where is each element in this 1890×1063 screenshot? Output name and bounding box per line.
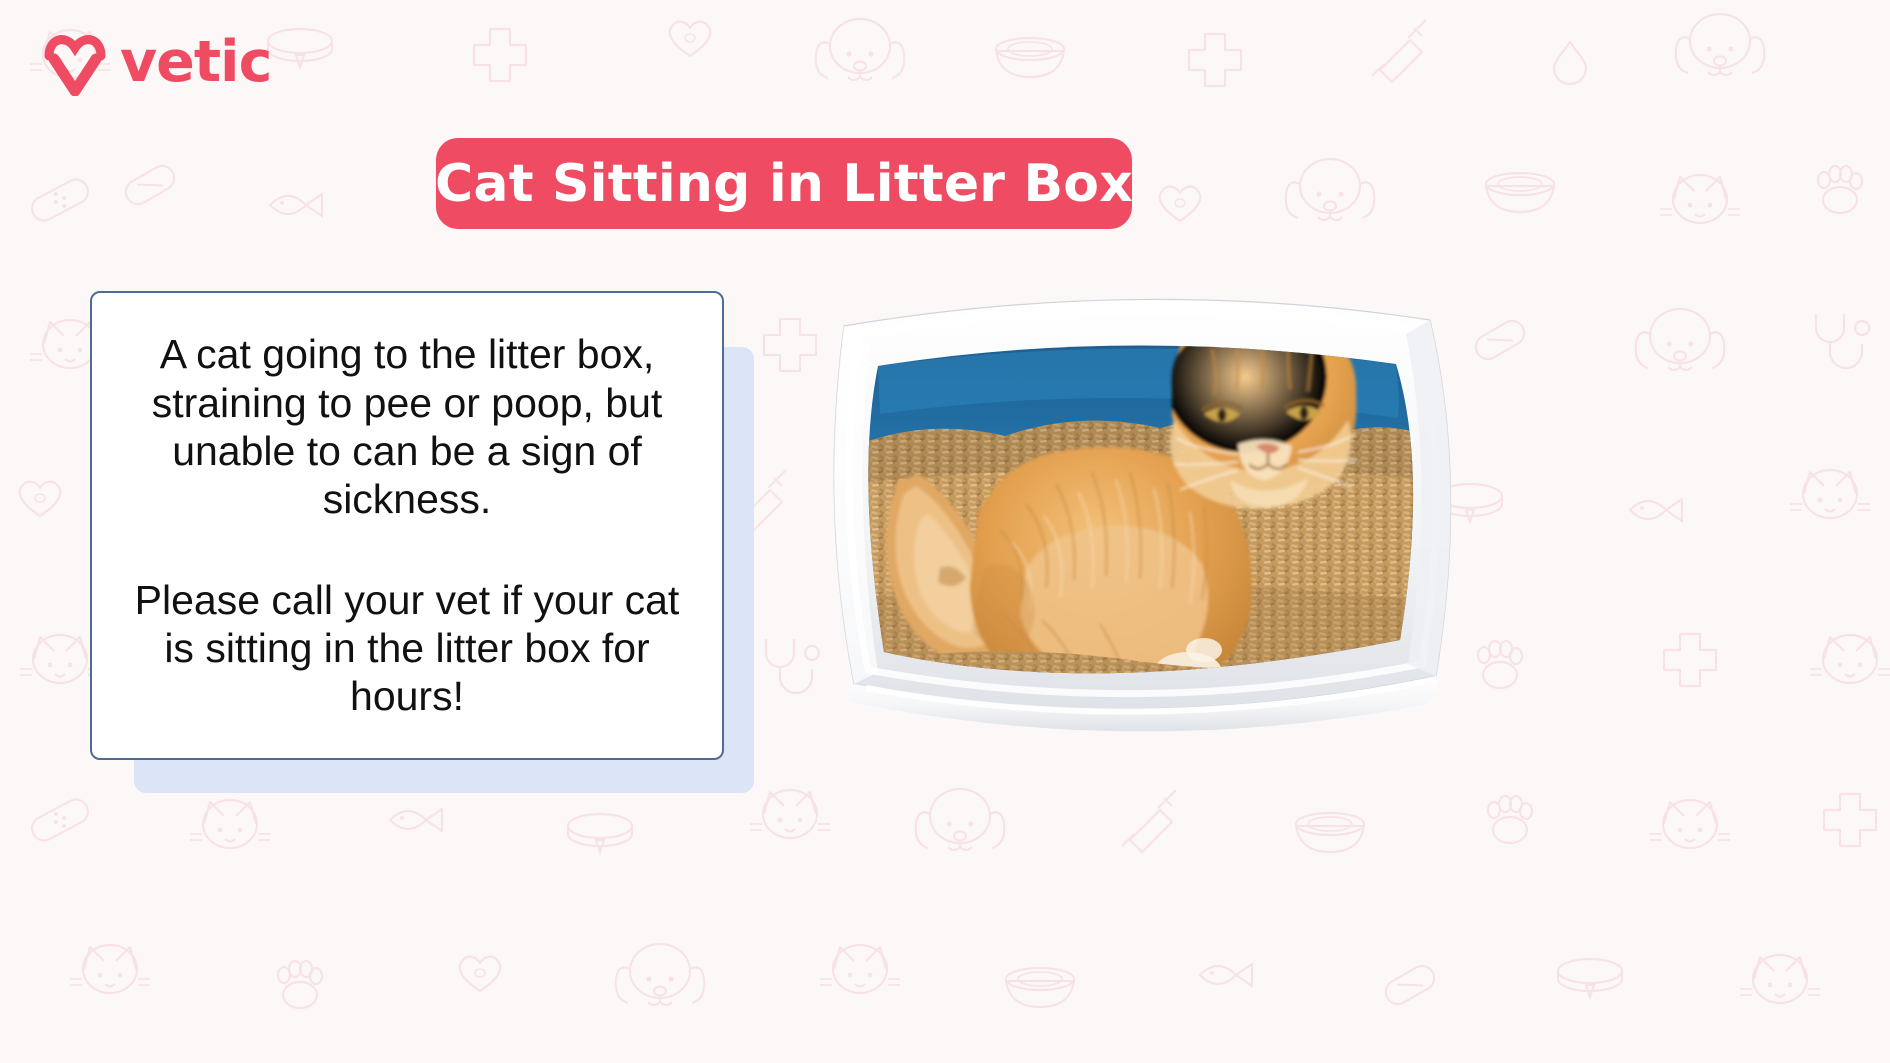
brand-wordmark: vetic [120,34,271,91]
page-title-banner: Cat Sitting in Litter Box [436,138,1132,229]
page-title: Cat Sitting in Litter Box [435,154,1133,214]
poster-canvas: vetic Cat Sitting in Litter Box A cat go… [0,0,1890,1063]
heart-v-icon [44,28,106,96]
info-paragraph-2: Please call your vet if your cat is sitt… [118,576,696,721]
cat-litter-box-photo [800,268,1480,760]
info-text-card: A cat going to the litter box, straining… [90,291,724,760]
info-paragraph-1: A cat going to the litter box, straining… [118,330,696,524]
brand-logo[interactable]: vetic [44,28,271,96]
